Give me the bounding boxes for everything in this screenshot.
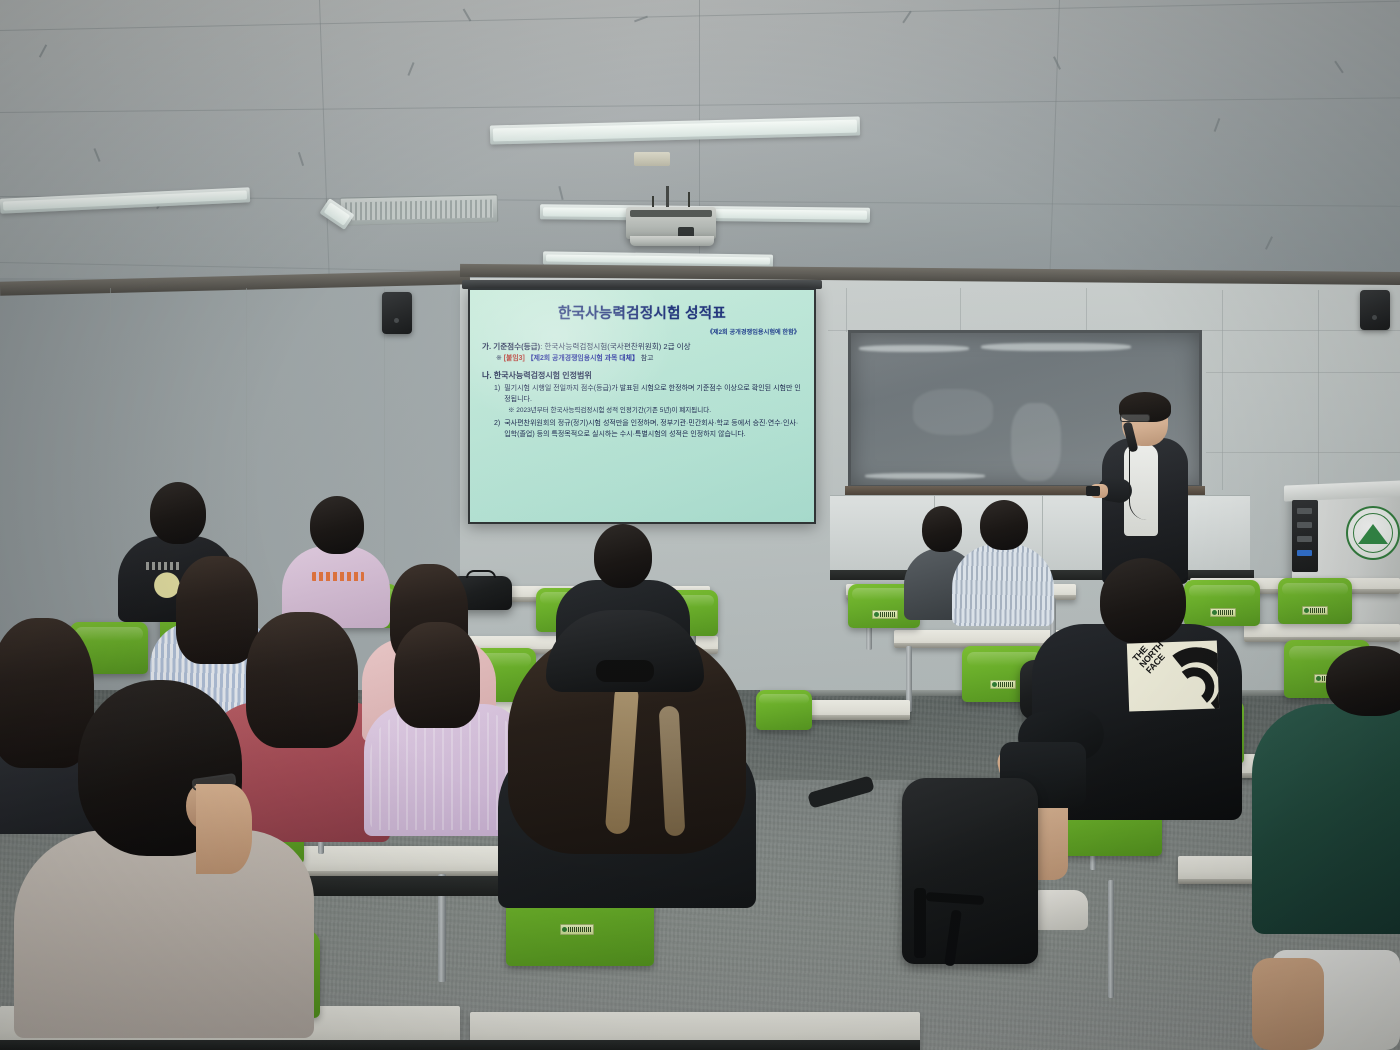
desk-leg (1108, 880, 1114, 998)
asset-tag (560, 924, 594, 935)
slide-item-number: 1) (494, 384, 500, 405)
whiteboard-smudge (865, 473, 985, 479)
chair[interactable] (1278, 578, 1352, 624)
slide-section-b-label: 나. 한국사능력검정시험 인정범위 (482, 370, 802, 381)
wall-seam (1206, 372, 1400, 373)
whiteboard-smudge (1011, 403, 1061, 481)
north-face-logo: THE NORTH FACE (1127, 640, 1219, 711)
ceiling-projector (626, 207, 716, 239)
slide-section-b-note: ※ 2023년부터 한국사능력검정시험 성적 인정기간(기존 5년)이 폐지됩니… (508, 406, 802, 416)
student-head (980, 500, 1028, 550)
whiteboard-smudge (913, 389, 993, 435)
wall-speaker (1360, 290, 1390, 330)
tag-logo (992, 682, 997, 687)
student-hair (394, 622, 480, 728)
presenter-glasses (1120, 414, 1150, 422)
tag-logo (562, 927, 567, 932)
asset-tag (990, 680, 1016, 689)
wall-seam (846, 288, 847, 332)
projection-screen: 한국사능력검정시험 성적표 《제2회 공개경쟁임용시험에 한함》 가. 기준점수… (468, 288, 816, 524)
backpack-strap (944, 910, 962, 967)
wall-seam (110, 288, 111, 588)
microphone-cable (1129, 450, 1147, 520)
slide-title: 한국사능력검정시험 성적표 (482, 302, 802, 323)
tag-barcode (998, 682, 1014, 687)
wall-seam (1086, 288, 1087, 330)
shirt-text-orange (312, 572, 364, 581)
projector-base (630, 236, 714, 246)
smoke-detector (634, 152, 670, 166)
student-thigh (1252, 958, 1324, 1050)
student-head (1100, 558, 1186, 644)
presenter (1096, 392, 1196, 582)
wall-seam (1206, 452, 1400, 453)
slide-item-text: 필기시험 시행일 전일까지 점수(등급)가 발표된 시험으로 한정하며 기준점수… (504, 384, 802, 405)
backpack-strap (914, 888, 926, 958)
sneaker (1030, 890, 1088, 930)
tag-barcode (880, 612, 896, 617)
slide-item-number: 2) (494, 419, 500, 440)
asset-tag (1302, 606, 1328, 615)
slide-section-a-text: : 한국사능력검정시험(국사편찬위원회) 2급 이상 (540, 342, 690, 351)
backpack-on-floor (902, 778, 1038, 964)
vent-slats (345, 199, 493, 220)
cap-strap-gap (596, 660, 654, 682)
student-front-left-glasses-beige (14, 680, 314, 1030)
presentation-clicker (1086, 486, 1100, 496)
wall-speaker (382, 292, 412, 334)
whiteboard-smudge (859, 345, 969, 352)
podium-button[interactable] (1297, 536, 1312, 542)
tag-barcode (568, 927, 592, 932)
podium-control-panel[interactable] (1292, 500, 1318, 572)
podium-button[interactable] (1297, 508, 1312, 514)
ceiling-seam (699, 0, 700, 290)
slide-section-a-label: 가. 기준점수(등급) (482, 342, 540, 351)
slide-list-item: 1) 필기시험 시행일 전일까지 점수(등급)가 발표된 시험으로 한정하며 기… (494, 384, 802, 405)
podium-button[interactable] (1297, 550, 1312, 556)
whiteboard-smudge (981, 343, 1131, 351)
student-head (594, 524, 652, 588)
tag-logo (1304, 608, 1309, 613)
wall-seam (246, 288, 247, 588)
presentation-slide: 한국사능력검정시험 성적표 《제2회 공개경쟁임용시험에 한함》 가. 기준점수… (470, 290, 814, 522)
wall-seam (1222, 290, 1223, 490)
wall-seam (960, 288, 961, 332)
tag-barcode (1310, 608, 1326, 613)
student-black-cap-highlight-hair (490, 588, 760, 888)
slide-list-item: 2) 국사편찬위원회의 정규(정기)시험 성적만을 인정하며, 정부기관·민간회… (494, 419, 802, 440)
slide-section-a: 가. 기준점수(등급): 한국사능력검정시험(국사편찬위원회) 2급 이상 (482, 341, 802, 352)
asset-tag (872, 610, 898, 619)
wall-seam (1318, 290, 1319, 490)
tag-logo (874, 612, 879, 617)
podium-button[interactable] (1297, 522, 1312, 528)
student-head (1326, 646, 1400, 716)
student-torso (1252, 704, 1400, 934)
ceiling (0, 0, 1400, 300)
student-head (310, 496, 364, 554)
emblem-triangle (1358, 524, 1388, 544)
university-emblem (1346, 506, 1400, 560)
slide-section-a-sub: ※ [붙임3] 【제2회 공개경쟁임용시험 과목 대체】 참고 (496, 354, 802, 364)
slide-item-text: 국사편찬위원회의 정규(정기)시험 성적만을 인정하며, 정부기관·민간회사·학… (504, 419, 802, 440)
chair[interactable] (756, 690, 812, 730)
slide-sub-bracket-1: [붙임3] (504, 355, 525, 362)
lecture-hall-photo: 한국사능력검정시험 성적표 《제2회 공개경쟁임용시험에 한함》 가. 기준점수… (0, 0, 1400, 1050)
projector-housing (630, 210, 712, 217)
front-desk-shadow (0, 1040, 920, 1050)
air-conditioner-vent (340, 194, 499, 225)
slide-sub-star: ※ (496, 355, 502, 362)
backpack-strap (926, 892, 984, 905)
student-head (150, 482, 206, 544)
student-torso (14, 830, 314, 1038)
slide-sub-suffix: 참고 (641, 355, 654, 362)
student-green-sweater-right (1252, 664, 1400, 964)
slide-top-note: 《제2회 공개경쟁임용시험에 한함》 (482, 327, 800, 336)
slide-sub-bracket-2: 【제2회 공개경쟁임용시험 과목 대체】 (527, 355, 639, 362)
student-face (196, 784, 252, 874)
